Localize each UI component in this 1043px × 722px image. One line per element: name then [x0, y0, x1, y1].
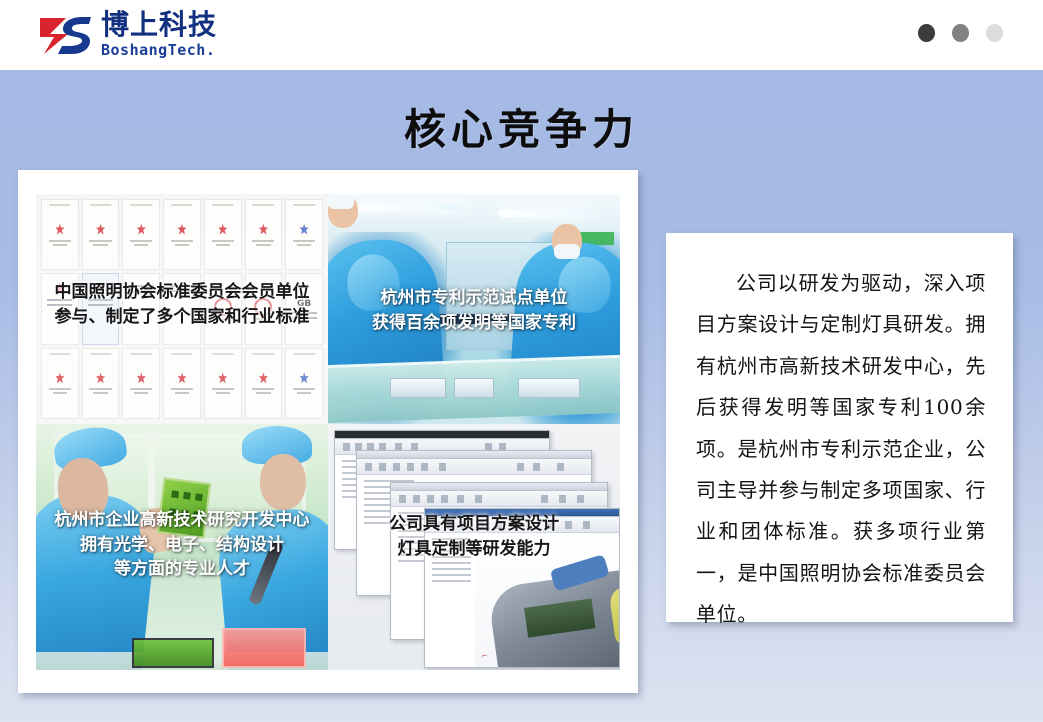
red-basket — [222, 628, 306, 668]
3d-model-luminaire — [487, 568, 620, 668]
ceiling-light — [352, 204, 462, 211]
dot-medium-icon[interactable] — [952, 24, 969, 42]
worker-face — [260, 454, 306, 510]
description-card: 公司以研发为驱动，深入项目方案设计与定制灯具研发。拥有杭州市高新技术研发中心，先… — [666, 233, 1013, 622]
slide-header: 博上科技 BoshangTech. — [0, 0, 1043, 70]
page-title: 核心竞争力 — [0, 96, 1043, 157]
description-paragraph: 公司以研发为驱动，深入项目方案设计与定制灯具研发。拥有杭州市高新技术研发中心，先… — [696, 263, 986, 636]
product-box — [390, 378, 446, 398]
gallery-tile-cad[interactable]: ⌐ ⌐ 公司具有项目方案设计 灯 — [328, 424, 620, 670]
presentation-slide: 博上科技 BoshangTech. 核心竞争力 — [0, 0, 1043, 722]
ceiling-light — [498, 210, 594, 217]
gallery-tile-cleanroom[interactable]: 杭州市专利示范试点单位 获得百余项发明等国家专利 — [328, 194, 620, 424]
company-logo[interactable]: 博上科技 BoshangTech. — [38, 11, 217, 59]
product-box — [454, 378, 494, 398]
gallery-tile-lab[interactable]: 杭州市企业高新技术研究开发中心 拥有光学、电子、结构设计 等方面的专业人才 — [36, 424, 328, 670]
gallery-card: GB 中国照明协会标准委员会会员单位 参与、制定了多个国家和行业标准 — [18, 170, 638, 693]
face-mask — [554, 244, 580, 259]
product-box — [518, 378, 580, 398]
dot-dark-icon[interactable] — [918, 24, 935, 42]
tile-caption-cleanroom: 杭州市专利示范试点单位 获得百余项发明等国家专利 — [328, 286, 620, 335]
tile-caption-cad: 公司具有项目方案设计 灯具定制等研发能力 — [328, 512, 620, 561]
tile-caption-lab: 杭州市企业高新技术研究开发中心 拥有光学、电子、结构设计 等方面的专业人才 — [36, 508, 328, 582]
face-mask — [328, 194, 354, 209]
logo-english-name: BoshangTech. — [101, 42, 217, 59]
gallery-grid: GB 中国照明协会标准委员会会员单位 参与、制定了多个国家和行业标准 — [36, 194, 620, 670]
gallery-tile-certificates[interactable]: GB 中国照明协会标准委员会会员单位 参与、制定了多个国家和行业标准 — [36, 194, 328, 424]
tile-caption-certificates: 中国照明协会标准委员会会员单位 参与、制定了多个国家和行业标准 — [36, 280, 328, 329]
logo-text: 博上科技 BoshangTech. — [101, 11, 217, 59]
boshang-bs-logo-icon — [38, 13, 92, 57]
dot-light-icon[interactable] — [986, 24, 1003, 42]
logo-chinese-name: 博上科技 — [101, 11, 217, 39]
component-tray — [132, 638, 214, 668]
header-dot-indicators — [918, 24, 1003, 42]
